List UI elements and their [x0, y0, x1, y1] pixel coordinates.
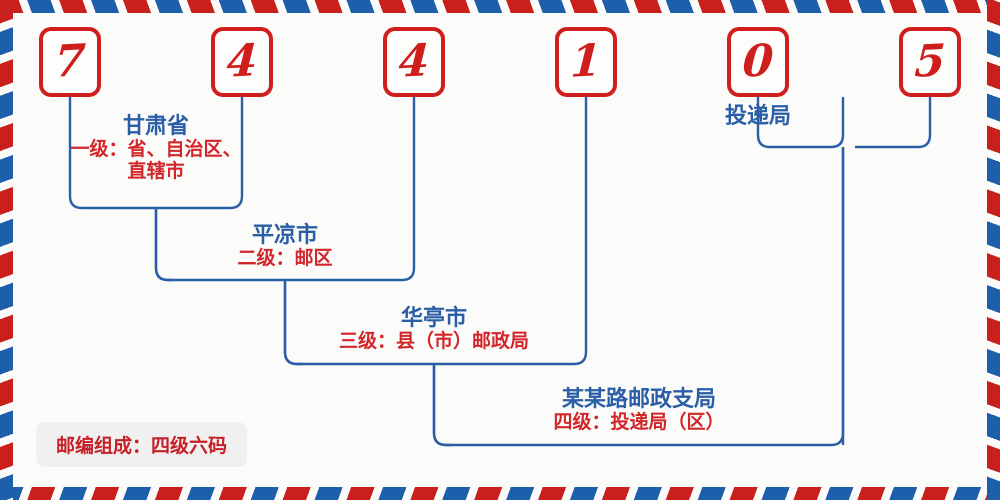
digit-glyph-4: 1: [557, 30, 614, 95]
label-delivery-office: 投递局: [658, 103, 858, 129]
label-level-2: 平凉市 二级：邮区: [135, 222, 435, 270]
label-level-2-sub: 二级：邮区: [135, 248, 435, 270]
composition-badge: 邮编组成：四级六码: [36, 422, 247, 467]
digit-box-5[interactable]: 0: [727, 27, 789, 97]
stripe-pattern-top: [0, 0, 1000, 13]
stripe-pattern-right: [987, 0, 1000, 500]
digit-box-3[interactable]: 4: [383, 27, 445, 97]
digit-box-6[interactable]: 5: [899, 27, 961, 97]
stripe-pattern-left: [0, 0, 13, 500]
envelope-border-left: [0, 0, 13, 500]
postcode-infographic: 7 4 4 1 0 5 投递局 甘肃省 一级：省、自治区、直辖市 平凉市 二级：…: [0, 0, 1000, 500]
digit-box-1[interactable]: 7: [39, 27, 101, 97]
envelope-border-top: [0, 0, 1000, 13]
digit-box-2[interactable]: 4: [211, 27, 273, 97]
digit-glyph-5: 0: [729, 30, 786, 95]
digit-glyph-1: 7: [41, 30, 98, 95]
envelope-border-bottom: [0, 487, 1000, 500]
label-level-1-sub: 一级：省、自治区、直辖市: [66, 139, 246, 184]
stripe-pattern-bottom: [0, 487, 1000, 500]
label-level-1: 甘肃省 一级：省、自治区、直辖市: [66, 113, 246, 184]
label-level-4: 某某路邮政支局 四级：投递局（区）: [439, 386, 839, 434]
digit-glyph-3: 4: [385, 30, 442, 95]
label-level-3-title: 华亭市: [244, 305, 624, 331]
label-level-1-title: 甘肃省: [66, 113, 246, 139]
label-delivery-office-title: 投递局: [658, 103, 858, 129]
label-level-3: 华亭市 三级：县（市）邮政局: [244, 305, 624, 353]
digit-glyph-2: 4: [213, 30, 270, 95]
label-level-4-sub: 四级：投递局（区）: [439, 412, 839, 434]
envelope-border-right: [987, 0, 1000, 500]
digit-glyph-6: 5: [901, 30, 958, 95]
digit-box-4[interactable]: 1: [555, 27, 617, 97]
label-level-4-title: 某某路邮政支局: [439, 386, 839, 412]
label-level-3-sub: 三级：县（市）邮政局: [244, 331, 624, 353]
label-level-2-title: 平凉市: [135, 222, 435, 248]
